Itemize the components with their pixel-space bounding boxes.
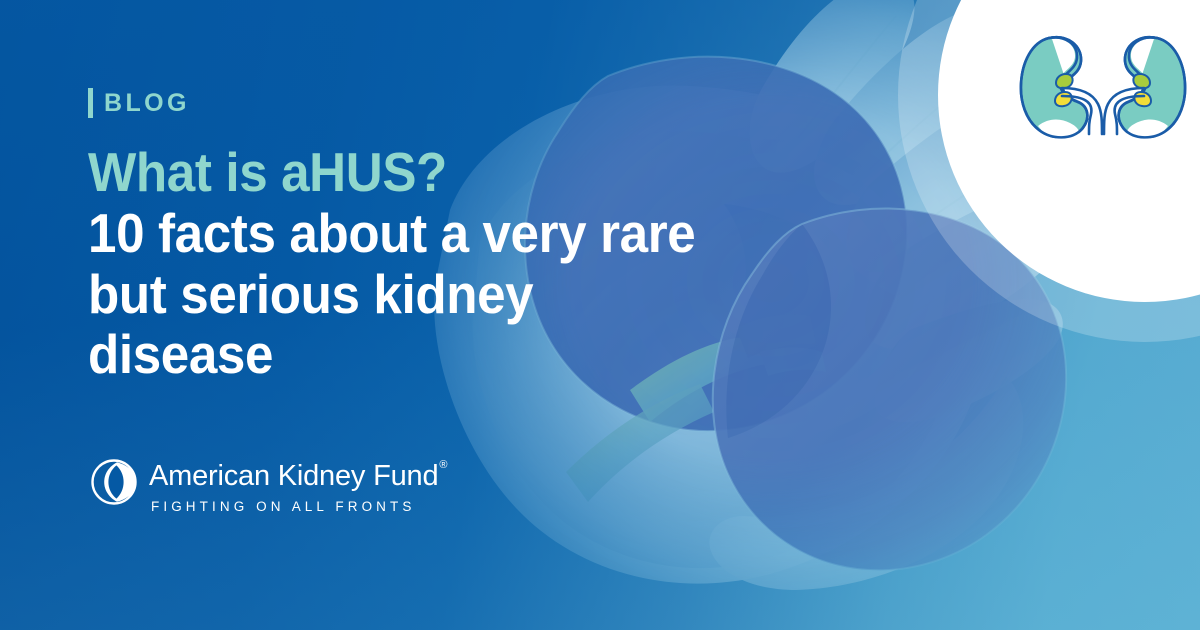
akf-circle-crescent-logo-icon xyxy=(90,458,138,506)
logo-name-text: American Kidney Fund xyxy=(149,460,438,492)
logo-organization-name: American Kidney Fund® xyxy=(149,462,446,491)
blog-share-card: BLOG What is aHUS? 10 facts about a very… xyxy=(0,0,1200,630)
text-content: BLOG What is aHUS? 10 facts about a very… xyxy=(88,86,788,385)
american-kidney-fund-logo: American Kidney Fund® FIGHTING ON ALL FR… xyxy=(90,458,446,514)
vertical-bar-icon xyxy=(88,88,93,118)
headline-line-2: 10 facts about a very rare xyxy=(88,202,695,264)
pair-of-kidneys-icon xyxy=(1008,22,1198,152)
logo-tagline: FIGHTING ON ALL FRONTS xyxy=(151,500,446,514)
registered-trademark-icon: ® xyxy=(439,459,447,471)
page-title: What is aHUS? 10 facts about a very rare… xyxy=(88,142,730,385)
headline-line-3: but serious kidney xyxy=(88,263,533,325)
blog-eyebrow-label: BLOG xyxy=(104,91,190,116)
logo-text-block: American Kidney Fund® FIGHTING ON ALL FR… xyxy=(149,458,446,514)
headline-line-1: What is aHUS? xyxy=(88,142,730,203)
headline-line-4: disease xyxy=(88,323,273,385)
blog-eyebrow: BLOG xyxy=(88,86,788,120)
